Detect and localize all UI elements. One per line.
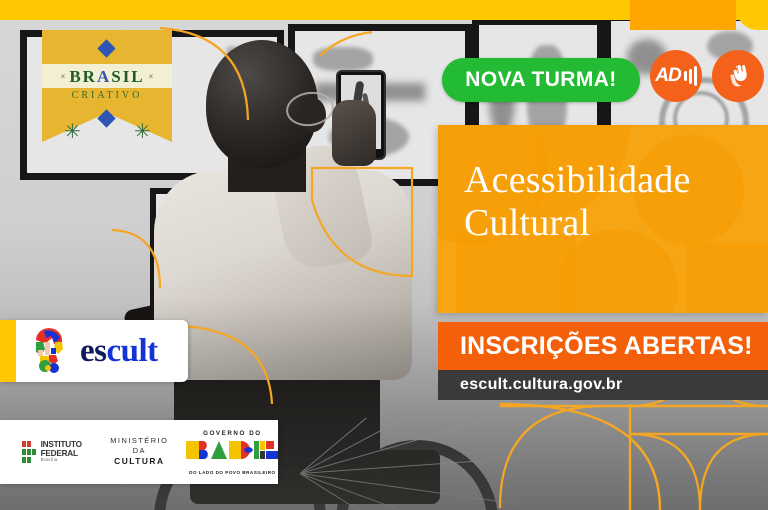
nova-turma-label: NOVA TURMA! (465, 68, 616, 92)
escult-wordmark: escult (80, 335, 158, 368)
escult-logo-card: escult (0, 320, 188, 382)
instituto-federal-title: INSTITUTO FEDERAL (41, 441, 91, 458)
website-url: escult.cultura.gov.br (460, 376, 622, 394)
title-panel: Acessibilidade Cultural (438, 125, 768, 313)
governo-do-brasil-logo: GOVERNO DO DO LADO DO POVO BRASILEIRO (186, 430, 278, 475)
government-logos-bar: INSTITUTO FEDERAL Brasília MINISTÉRIO DA… (0, 420, 278, 484)
instituto-federal-logo: INSTITUTO FEDERAL Brasília (22, 441, 90, 463)
ministerio-line1: MINISTÉRIO DA (110, 436, 168, 456)
top-yellow-bar (0, 0, 768, 20)
poster-star-icon: ✳ (64, 122, 81, 142)
enrollment-headline: INSCRIÇÕES ABERTAS! (460, 332, 753, 361)
poster-brand-word-accent: A (97, 67, 111, 86)
escult-wordmark-es: es (80, 333, 107, 369)
accessibility-course-banner: ✳ ✳ × BRASIL × CRIATIVO (0, 0, 768, 510)
poster-star-icon: ✳ (134, 122, 151, 142)
poster-brand-word: BRASIL (69, 68, 144, 85)
instituto-federal-subtitle: Brasília (41, 458, 91, 463)
website-url-bar[interactable]: escult.cultura.gov.br (438, 370, 768, 400)
governo-tagline: DO LADO DO POVO BRASILEIRO (186, 470, 278, 475)
nova-turma-button[interactable]: NOVA TURMA! (442, 58, 640, 102)
governo-brasil-blocks-icon (186, 439, 278, 461)
top-bar-accent-segment (630, 0, 736, 30)
sound-waves-icon (682, 66, 697, 86)
panel-title: Acessibilidade Cultural (464, 159, 754, 244)
ministerio-da-cultura-logo: MINISTÉRIO DA CULTURA (110, 436, 168, 467)
escult-yellow-strip (0, 320, 16, 382)
panel-title-line2: Cultural (464, 202, 754, 245)
ministerio-line2: CULTURA (110, 456, 168, 467)
poster-brand-word-part1: BR (69, 67, 97, 86)
poster-ornament-left: × (61, 72, 66, 81)
enrollment-banner: INSCRIÇÕES ABERTAS! (438, 322, 768, 370)
escult-wordmark-cult: cult (107, 333, 158, 369)
libras-sign-language-icon[interactable] (712, 50, 764, 102)
escult-face-mark-icon (28, 328, 70, 374)
accessibility-icon-group: AD (650, 50, 764, 102)
audio-description-icon[interactable]: AD (650, 50, 702, 102)
governo-top-text: GOVERNO DO (186, 430, 278, 437)
poster-brand-word-part2: SIL (111, 67, 144, 86)
instituto-federal-grid-icon (22, 441, 36, 463)
audio-description-label: AD (655, 65, 680, 87)
hands-glyph (722, 60, 754, 92)
panel-title-line1: Acessibilidade (464, 159, 754, 202)
person-hand (332, 100, 376, 166)
